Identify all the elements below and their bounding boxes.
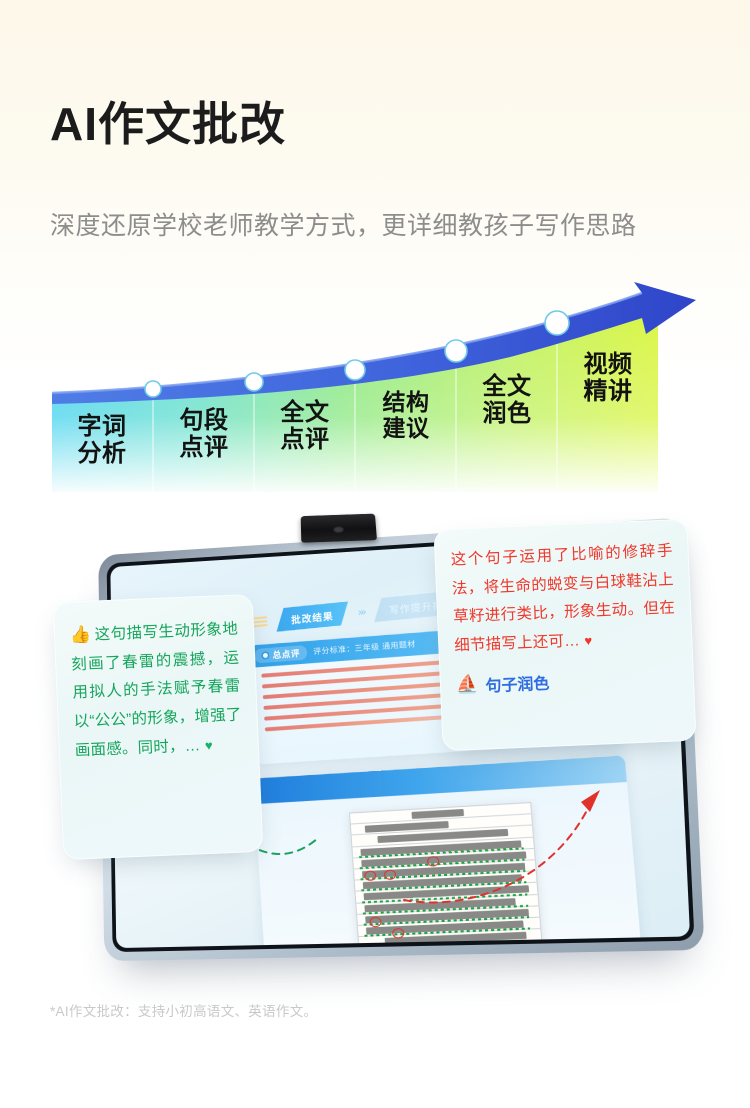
ai-badge-label: 总点评: [272, 647, 300, 662]
page-title: AI作文批改: [50, 101, 286, 147]
sailboat-icon: ⛵: [456, 674, 479, 696]
chevron-right-icon: ›››: [357, 605, 365, 618]
camera-module-icon: [301, 514, 377, 543]
chart-step-3: 结构 建议: [358, 390, 454, 442]
bubble-right-tag[interactable]: ⛵ 句子润色: [456, 664, 679, 697]
thumbs-up-icon: 👍: [70, 625, 92, 645]
ai-criteria-label: 评分标准：三年级 通用题材: [313, 639, 416, 658]
bubble-left-text: 这句描写生动形象地刻画了春雷的震撼，运用拟人的手法赋予春雷以“公公”的形象，增强…: [71, 621, 242, 760]
essay-panel: ✓ ✓: [253, 755, 643, 948]
page-subtitle: 深度还原学校老师教学方式，更详细教孩子写作思路: [50, 206, 637, 242]
bubble-right-text-block: 这个句子运用了比喻的修辞手法，将生命的蜕变与白球鞋沾上草籽进行类比，形象生动。但…: [450, 537, 677, 661]
heart-icon: ♥: [205, 737, 214, 752]
deco-bars-left-icon: [252, 616, 268, 627]
essay-paper[interactable]: ✓ ✓: [349, 802, 550, 948]
bubble-right-text: 这个句子运用了比喻的修辞手法，将生命的蜕变与白球鞋沾上草籽进行类比，形象生动。但…: [450, 542, 675, 654]
ai-badge-icon: [261, 651, 270, 660]
chart-step-2: 全文 点评: [257, 400, 353, 454]
essay-panel-header: [253, 755, 627, 804]
chart-step-5: 视频 精讲: [560, 352, 656, 406]
tab-grading-result[interactable]: 批改结果: [275, 601, 350, 632]
bubble-left-text-block: 👍这句描写生动形象地刻画了春雷的震撼，运用拟人的手法赋予春雷以“公公”的形象，增…: [69, 613, 243, 766]
chart-step-1: 句段 点评: [156, 408, 252, 462]
chart-step-0: 字词 分析: [54, 414, 150, 468]
callout-bubble-left: 👍这句描写生动形象地刻画了春雷的震撼，运用拟人的手法赋予春雷以“公公”的形象，增…: [53, 594, 264, 860]
ai-badge: 总点评: [254, 645, 307, 664]
bubble-right-tag-label: 句子润色: [485, 669, 550, 696]
heart-icon: ♥: [584, 633, 593, 648]
growth-chart: 字词 分析 句段 点评 全文 点评 结构 建议 全文 润色 视频 精讲: [46, 278, 706, 508]
callout-bubble-right: 这个句子运用了比喻的修辞手法，将生命的蜕变与白球鞋沾上草籽进行类比，形象生动。但…: [433, 519, 696, 751]
footnote: *AI作文批改：支持小初高语文、英语作文。: [50, 1000, 317, 1020]
chart-step-4: 全文 润色: [459, 374, 555, 428]
